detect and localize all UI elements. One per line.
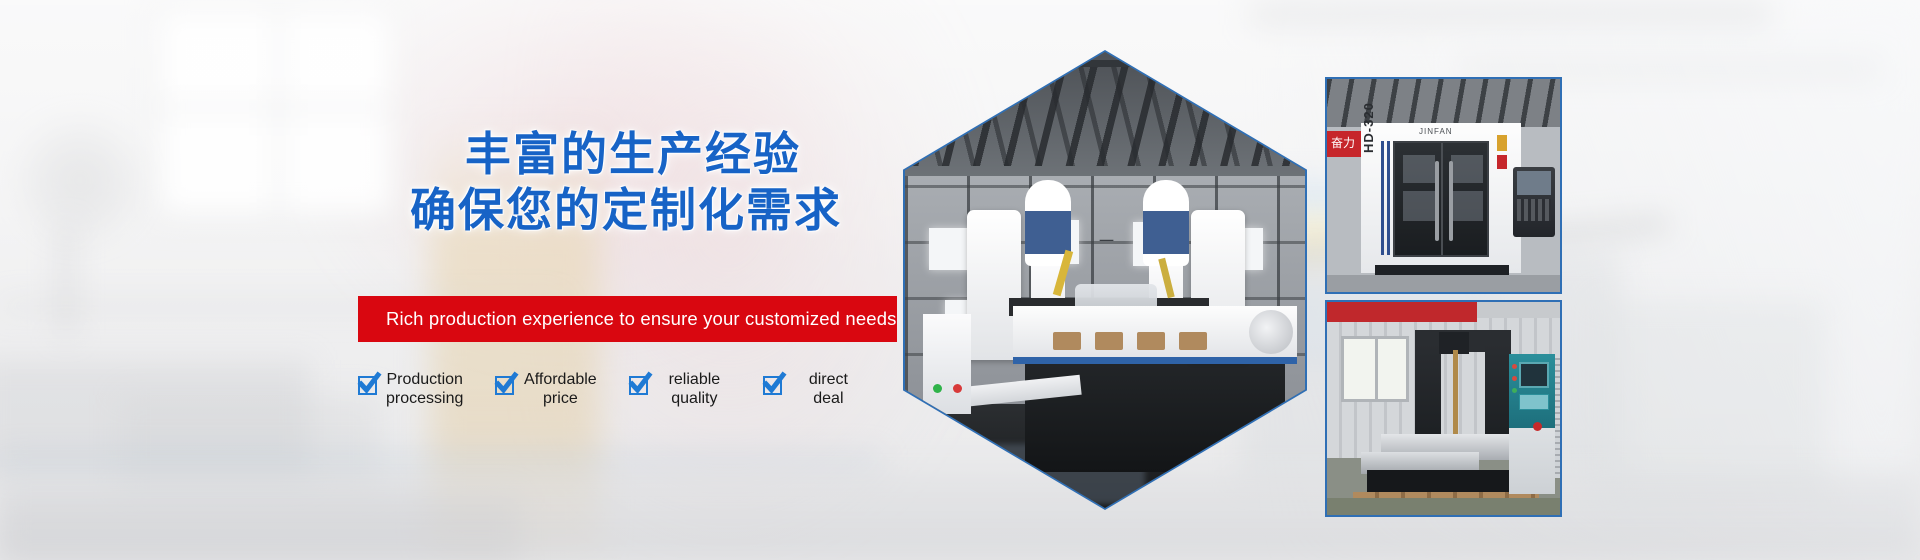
checkbox-checked-icon — [629, 376, 648, 395]
control-panel-screen — [1517, 171, 1551, 195]
side-top-floor — [1327, 275, 1560, 294]
hexagon-photo: 定 一 切 — [905, 52, 1305, 508]
feature-item-reliable-quality: reliable quality — [629, 370, 731, 408]
feature-label: reliable quality — [657, 370, 731, 408]
control-panel-keypad — [1519, 394, 1549, 410]
machine-model-label: HD-320 — [1361, 102, 1376, 153]
machine-coil — [1249, 310, 1293, 354]
feature-item-direct-deal: direct deal — [763, 370, 865, 408]
machine-workpiece — [1053, 332, 1081, 350]
door-handle — [1449, 161, 1453, 241]
side-top-blue-stripe — [1381, 141, 1384, 255]
headline-line-1: 丰富的生产经验 — [410, 126, 856, 182]
door-split-line — [1441, 143, 1443, 255]
checkbox-checked-icon — [763, 376, 782, 395]
side-top-warning-light — [1497, 135, 1507, 151]
window-mullion — [1375, 339, 1378, 399]
control-button-red — [1512, 376, 1517, 381]
headline-line-2: 确保您的定制化需求 — [396, 182, 856, 238]
door-window — [1403, 191, 1435, 221]
door-window — [1403, 155, 1435, 183]
control-panel-keypad — [1517, 199, 1551, 221]
control-panel-screen — [1519, 362, 1549, 388]
feature-list: Production processing Affordable price r… — [358, 370, 865, 408]
machine-indicator-green — [933, 384, 942, 393]
gantry-spindle — [1453, 350, 1458, 436]
hexagon-border: 定 一 切 — [903, 50, 1307, 510]
workshop-truss-secondary — [905, 66, 1305, 166]
machine-brand-label: JINFAN — [1419, 127, 1453, 136]
checkbox-checked-icon — [358, 376, 377, 395]
door-handle — [1435, 161, 1439, 241]
machine-workpiece — [1137, 332, 1165, 350]
subtitle-text: Rich production experience to ensure you… — [358, 308, 897, 330]
feature-label: Production processing — [386, 370, 463, 408]
workshop-roof-ridge — [905, 60, 1305, 67]
side-image-gantry-machine — [1325, 300, 1562, 517]
workshop-scene: 定 一 切 — [905, 52, 1305, 508]
machine-workpiece — [1095, 332, 1123, 350]
side-bottom-wall-banner — [1327, 302, 1477, 322]
feature-label: Affordable price — [523, 370, 597, 408]
control-button-green — [1512, 388, 1517, 393]
door-window — [1451, 191, 1483, 221]
side-bottom-window — [1341, 336, 1409, 402]
side-bottom-floor — [1327, 498, 1560, 517]
door-window — [1451, 155, 1483, 183]
machine-workpiece — [1179, 332, 1207, 350]
machine-indicator-red — [953, 384, 962, 393]
emergency-stop-button — [1533, 422, 1542, 431]
hero-hexagon-image: 定 一 切 — [903, 50, 1307, 510]
side-image-machining-center: 奋力 JINFAN HD-320 — [1325, 77, 1562, 294]
hero-banner: 丰富的生产经验 确保您的定制化需求 Rich production experi… — [0, 0, 1920, 560]
machine-base — [1025, 352, 1285, 472]
machine-head-right — [1143, 180, 1189, 266]
feature-item-production-processing: Production processing — [358, 370, 463, 408]
feature-item-affordable-price: Affordable price — [495, 370, 597, 408]
side-top-blue-stripe — [1387, 141, 1390, 255]
subtitle-bar: Rich production experience to ensure you… — [358, 296, 897, 342]
side-top-machine-door — [1393, 141, 1489, 257]
checkbox-checked-icon — [495, 376, 514, 395]
side-top-warning-label — [1497, 155, 1507, 169]
machine-control-cabinet — [923, 314, 971, 414]
headline: 丰富的生产经验 确保您的定制化需求 — [396, 126, 856, 238]
side-top-control-panel — [1513, 167, 1555, 237]
control-button-red — [1512, 364, 1517, 369]
feature-label: direct deal — [791, 370, 865, 408]
